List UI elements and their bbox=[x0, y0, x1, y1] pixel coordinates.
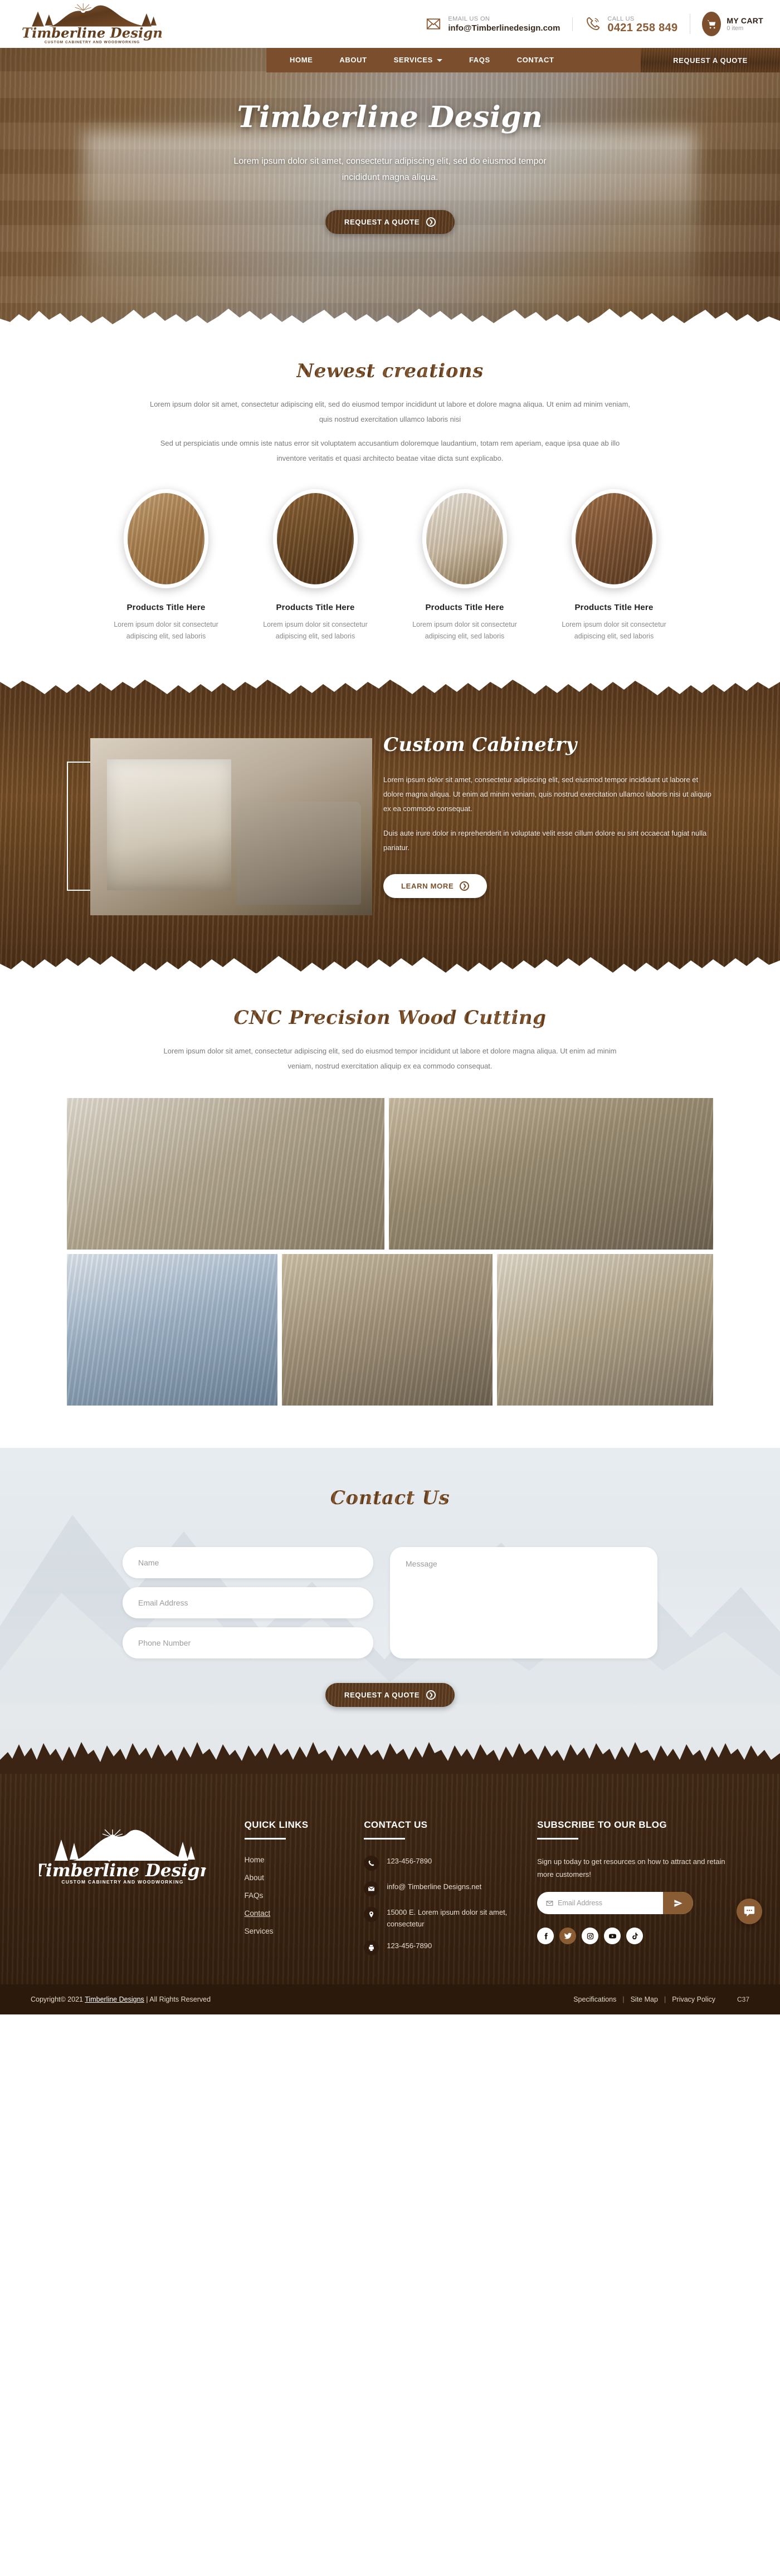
newest-paragraph-1: Lorem ipsum dolor sit amet, consectetur … bbox=[145, 397, 635, 427]
paper-plane-icon bbox=[674, 1899, 683, 1908]
copyright-suffix: | All Rights Reserved bbox=[146, 1996, 211, 2003]
hero-title: Timberline Design bbox=[178, 100, 602, 134]
email-info[interactable]: EMAIL US ON info@Timberlinedesign.com bbox=[413, 15, 572, 33]
product-title: Products Title Here bbox=[547, 603, 681, 612]
main-nav: HOME ABOUT SERVICES FAQS CONTACT REQUEST… bbox=[266, 48, 780, 72]
tree-line-divider bbox=[0, 1728, 780, 1774]
footer-link-site-map[interactable]: Site Map bbox=[625, 1996, 664, 2003]
heading-underline bbox=[364, 1838, 405, 1840]
product-title: Products Title Here bbox=[99, 603, 233, 612]
nav-label: ABOUT bbox=[339, 48, 367, 72]
newest-paragraph-2: Sed ut perspiciatis unde omnis iste natu… bbox=[145, 436, 635, 466]
footer-fax-value: 123-456-7890 bbox=[387, 1940, 432, 1951]
nav-label: HOME bbox=[290, 48, 313, 72]
nav-item-services[interactable]: SERVICES bbox=[381, 48, 456, 72]
product-card[interactable]: Products Title Here Lorem ipsum dolor si… bbox=[248, 489, 383, 642]
footer-link-contact[interactable]: Contact bbox=[245, 1909, 271, 1918]
timberline-logo-icon: Timberline Design CUSTOM CABINETRY AND W… bbox=[39, 1829, 206, 1887]
nav-request-quote-button[interactable]: REQUEST A QUOTE bbox=[641, 48, 780, 72]
product-text: Lorem ipsum dolor sit consectetur adipis… bbox=[547, 619, 681, 642]
product-image bbox=[572, 489, 656, 588]
contact-section: Contact Us REQUEST A QUOTE ❯ bbox=[0, 1448, 780, 1774]
facebook-icon[interactable] bbox=[537, 1928, 554, 1944]
cnc-title: CNC Precision Wood Cutting bbox=[233, 1007, 546, 1029]
cabinetry-photo-block bbox=[67, 730, 357, 915]
gallery-row bbox=[67, 1098, 713, 1250]
newest-creations-title: Newest creations bbox=[296, 360, 484, 382]
chat-bubble-icon bbox=[743, 1905, 755, 1918]
twitter-icon[interactable] bbox=[559, 1928, 576, 1944]
cart-count: 0 item bbox=[727, 25, 763, 32]
torn-edge-bottom bbox=[0, 941, 780, 973]
product-card[interactable]: Products Title Here Lorem ipsum dolor si… bbox=[547, 489, 681, 642]
timberline-logo-icon: Timberline Design CUSTOM CABINETRY AND W… bbox=[16, 3, 169, 45]
envelope-icon bbox=[425, 16, 442, 32]
nav-label: CONTACT bbox=[517, 48, 554, 72]
svg-text:Timberline Design: Timberline Design bbox=[22, 25, 163, 41]
subscribe-input-wrap bbox=[537, 1892, 663, 1914]
gallery-row bbox=[67, 1254, 713, 1406]
chevron-right-icon: ❯ bbox=[426, 1690, 436, 1700]
contact-request-quote-button[interactable]: REQUEST A QUOTE ❯ bbox=[325, 1683, 455, 1707]
hero-cta-label: REQUEST A QUOTE bbox=[344, 218, 420, 226]
fax-icon bbox=[364, 1940, 379, 1955]
torn-edge-top bbox=[0, 678, 780, 710]
youtube-icon[interactable] bbox=[604, 1928, 621, 1944]
copyright-prefix: Copyright© 2021 bbox=[31, 1996, 83, 2003]
nav-label: SERVICES bbox=[394, 48, 433, 72]
top-bar: Timberline Design CUSTOM CABINETRY AND W… bbox=[0, 0, 780, 48]
build-code: C37 bbox=[737, 1996, 749, 2003]
hero-subtitle: Lorem ipsum dolor sit amet, consectetur … bbox=[217, 153, 563, 186]
product-image bbox=[422, 489, 507, 588]
cnc-paragraph: Lorem ipsum dolor sit amet, consectetur … bbox=[150, 1043, 630, 1074]
product-cards: Products Title Here Lorem ipsum dolor si… bbox=[0, 489, 780, 642]
phone-icon bbox=[364, 1856, 379, 1871]
nav-item-faqs[interactable]: FAQS bbox=[456, 48, 504, 72]
product-image bbox=[124, 489, 208, 588]
cabinetry-photo bbox=[90, 738, 372, 915]
call-value: 0421 258 849 bbox=[607, 23, 677, 33]
footer-address-row[interactable]: 15000 E. Lorem ipsum dolor sit amet, con… bbox=[364, 1906, 525, 1930]
cart-widget[interactable]: MY CART 0 item bbox=[690, 12, 763, 36]
cnc-gallery bbox=[67, 1098, 713, 1406]
footer-link-specifications[interactable]: Specifications bbox=[567, 1996, 622, 2003]
footer-phone-row[interactable]: 123-456-7890 bbox=[364, 1855, 525, 1871]
heading-underline bbox=[245, 1838, 286, 1840]
hero-section: Timberline Design Lorem ipsum dolor sit … bbox=[0, 48, 780, 328]
cart-title: MY CART bbox=[727, 16, 763, 25]
cabinetry-title: Custom Cabinetry bbox=[383, 734, 713, 756]
footer-link-home[interactable]: Home bbox=[245, 1856, 265, 1864]
envelope-icon bbox=[546, 1900, 553, 1907]
product-image bbox=[273, 489, 358, 588]
svg-text:CUSTOM CABINETRY AND WOODWORKI: CUSTOM CABINETRY AND WOODWORKING bbox=[61, 1879, 183, 1885]
product-title: Products Title Here bbox=[397, 603, 532, 612]
gallery-image-dinosaur-cutout[interactable] bbox=[282, 1254, 493, 1406]
product-card[interactable]: Products Title Here Lorem ipsum dolor si… bbox=[99, 489, 233, 642]
cabinetry-paragraph-1: Lorem ipsum dolor sit amet, consectetur … bbox=[383, 773, 713, 816]
name-input[interactable] bbox=[123, 1547, 373, 1578]
social-links bbox=[537, 1928, 741, 1944]
product-title: Products Title Here bbox=[248, 603, 383, 612]
nav-label: FAQS bbox=[469, 48, 490, 72]
header-logo[interactable]: Timberline Design CUSTOM CABINETRY AND W… bbox=[0, 3, 184, 45]
footer-link-about[interactable]: About bbox=[245, 1874, 264, 1882]
contact-title: Contact Us bbox=[330, 1487, 450, 1509]
chevron-right-icon: ❯ bbox=[460, 881, 469, 891]
footer-quick-links: QUICK LINKS Home About FAQs Contact Serv… bbox=[245, 1819, 352, 1944]
gallery-image-cut-shapes-sheet[interactable] bbox=[497, 1254, 713, 1406]
footer-link-services[interactable]: Services bbox=[245, 1927, 274, 1935]
footer-link-faqs[interactable]: FAQs bbox=[245, 1891, 264, 1900]
top-contact-info: EMAIL US ON info@Timberlinedesign.com CA… bbox=[184, 12, 780, 36]
subscribe-email-input[interactable] bbox=[558, 1899, 663, 1907]
nav-links: HOME ABOUT SERVICES FAQS CONTACT bbox=[266, 48, 641, 72]
cabinetry-paragraph-2: Duis aute irure dolor in reprehenderit i… bbox=[383, 826, 713, 855]
email-label: EMAIL US ON bbox=[448, 15, 560, 23]
footer-contact-us: CONTACT US 123-456-7890 info@ Timberline… bbox=[364, 1819, 525, 1965]
email-value: info@Timberlinedesign.com bbox=[448, 23, 560, 33]
custom-cabinetry-section: Custom Cabinetry Lorem ipsum dolor sit a… bbox=[0, 678, 780, 973]
cnc-section: CNC Precision Wood Cutting Lorem ipsum d… bbox=[0, 973, 780, 1448]
subscribe-heading: SUBSCRIBE TO OUR BLOG bbox=[537, 1819, 741, 1831]
nav-cta-label: REQUEST A QUOTE bbox=[673, 56, 748, 65]
contact-form bbox=[123, 1547, 657, 1658]
nav-item-contact[interactable]: CONTACT bbox=[504, 48, 568, 72]
email-input[interactable] bbox=[123, 1587, 373, 1618]
copyright-bar: Copyright© 2021 Timberline Designs | All… bbox=[0, 1984, 780, 2014]
footer-link-privacy-policy[interactable]: Privacy Policy bbox=[666, 1996, 721, 2003]
tiktok-icon[interactable] bbox=[626, 1928, 643, 1944]
chevron-right-icon: ❯ bbox=[426, 217, 436, 227]
product-card[interactable]: Products Title Here Lorem ipsum dolor si… bbox=[397, 489, 532, 642]
footer-address-value: 15000 E. Lorem ipsum dolor sit amet, con… bbox=[387, 1906, 525, 1930]
product-text: Lorem ipsum dolor sit consectetur adipis… bbox=[248, 619, 383, 642]
svg-text:CUSTOM CABINETRY AND WOODWORKI: CUSTOM CABINETRY AND WOODWORKING bbox=[45, 40, 140, 44]
learn-more-button[interactable]: LEARN MORE ❯ bbox=[383, 874, 487, 898]
subscribe-submit-button[interactable] bbox=[663, 1892, 693, 1914]
cart-icon bbox=[702, 12, 721, 36]
subscribe-text: Sign up today to get resources on how to… bbox=[537, 1855, 741, 1881]
footer-phone-value: 123-456-7890 bbox=[387, 1855, 432, 1867]
contact-cta-label: REQUEST A QUOTE bbox=[344, 1691, 420, 1699]
instagram-icon[interactable] bbox=[582, 1928, 598, 1944]
footer-fax-row[interactable]: 123-456-7890 bbox=[364, 1940, 525, 1955]
gallery-image-carving-closeup[interactable] bbox=[67, 1098, 384, 1250]
product-text: Lorem ipsum dolor sit consectetur adipis… bbox=[397, 619, 532, 642]
chat-button[interactable] bbox=[737, 1899, 762, 1924]
nav-item-about[interactable]: ABOUT bbox=[326, 48, 380, 72]
phone-input[interactable] bbox=[123, 1627, 373, 1658]
footer-logo[interactable]: Timberline Design CUSTOM CABINETRY AND W… bbox=[39, 1819, 232, 1890]
copyright-brand-link[interactable]: Timberline Designs bbox=[85, 1996, 144, 2003]
contact-us-heading: CONTACT US bbox=[364, 1819, 525, 1831]
footer-subscribe: SUBSCRIBE TO OUR BLOG Sign up today to g… bbox=[537, 1819, 741, 1944]
phone-icon bbox=[584, 16, 601, 32]
hero-request-quote-button[interactable]: REQUEST A QUOTE ❯ bbox=[325, 210, 455, 234]
quick-links-heading: QUICK LINKS bbox=[245, 1819, 352, 1831]
footer-email-value: info@ Timberline Designs.net bbox=[387, 1881, 481, 1892]
heading-underline bbox=[537, 1838, 578, 1840]
call-info[interactable]: CALL US 0421 258 849 bbox=[572, 15, 690, 33]
gallery-image-machine-shop[interactable] bbox=[389, 1098, 713, 1250]
map-pin-icon bbox=[364, 1907, 379, 1922]
subscribe-form bbox=[537, 1892, 693, 1914]
newest-creations-section: Newest creations Lorem ipsum dolor sit a… bbox=[0, 328, 780, 678]
message-textarea[interactable] bbox=[390, 1547, 657, 1658]
torn-edge-divider bbox=[0, 294, 780, 328]
copyright-text: Copyright© 2021 Timberline Designs | All… bbox=[31, 1996, 211, 2003]
homepage: Timberline Design CUSTOM CABINETRY AND W… bbox=[0, 0, 780, 2014]
gallery-image-cut-plywood-sheet[interactable] bbox=[67, 1254, 277, 1406]
svg-text:Timberline Design: Timberline Design bbox=[39, 1861, 206, 1881]
nav-item-home[interactable]: HOME bbox=[276, 48, 326, 72]
chevron-down-icon bbox=[437, 59, 442, 62]
footer-email-row[interactable]: info@ Timberline Designs.net bbox=[364, 1881, 525, 1896]
product-text: Lorem ipsum dolor sit consectetur adipis… bbox=[99, 619, 233, 642]
envelope-icon bbox=[364, 1881, 379, 1896]
footer: Timberline Design CUSTOM CABINETRY AND W… bbox=[0, 1774, 780, 1984]
learn-more-label: LEARN MORE bbox=[401, 882, 454, 890]
footer-legal-links: Specifications | Site Map | Privacy Poli… bbox=[567, 1996, 749, 2003]
